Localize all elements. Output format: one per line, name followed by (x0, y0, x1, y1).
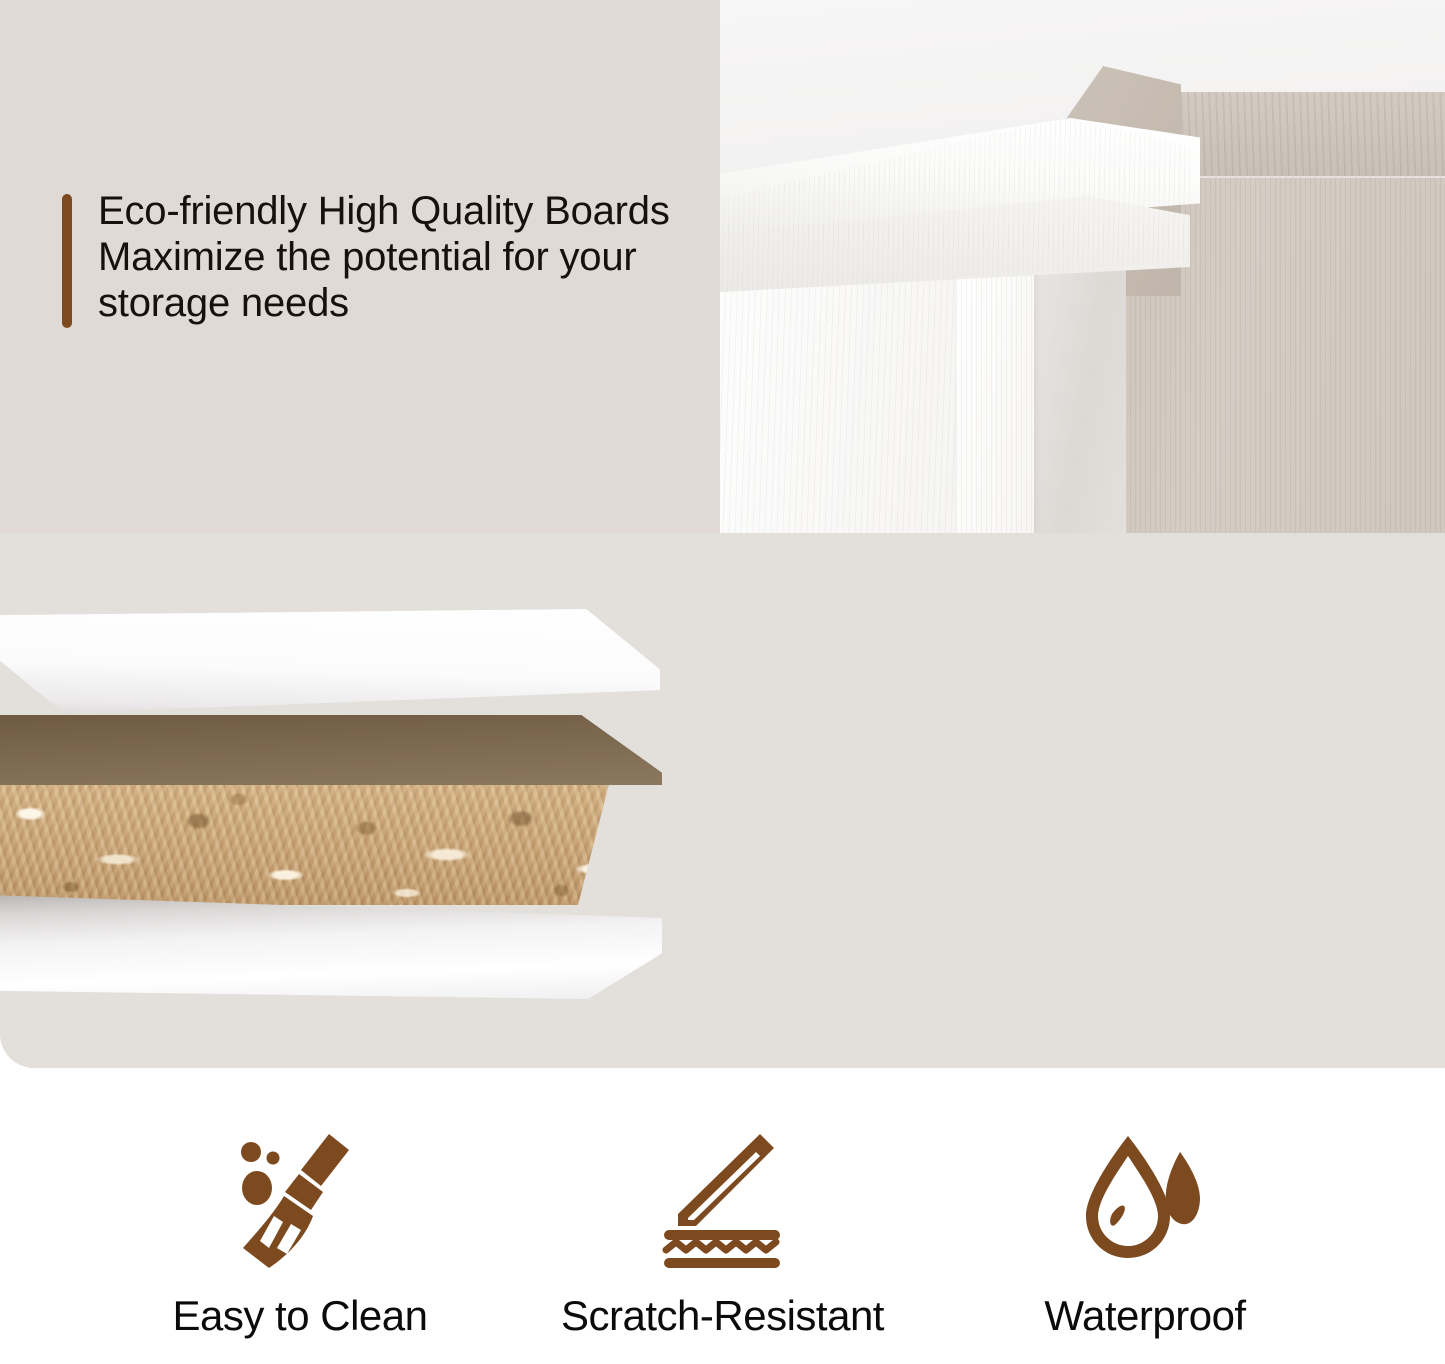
board-core (0, 715, 662, 905)
headline-block: Eco-friendly High Quality Boards Maximiz… (62, 188, 670, 328)
feature-scratch-resistant: Scratch-Resistant (573, 1068, 873, 1340)
top-panel: Eco-friendly High Quality Boards Maximiz… (0, 0, 1445, 533)
headline-text: Eco-friendly High Quality Boards Maximiz… (98, 188, 670, 326)
feature-easy-to-clean: Easy to Clean (150, 1068, 450, 1340)
board-top-laminate (0, 609, 660, 713)
board-core-top-bevel (0, 715, 662, 789)
knife-on-board-icon (648, 1130, 798, 1270)
bottom-panel: Easy to Clean Scratch-Resistant (0, 1068, 1445, 1364)
cabinet-photo (720, 0, 1445, 533)
feature-icon-row: Easy to Clean Scratch-Resistant (0, 1068, 1445, 1364)
product-feature-infographic: Eco-friendly High Quality Boards Maximiz… (0, 0, 1445, 1364)
board-particle-face (0, 785, 662, 905)
water-droplet-icon (1070, 1130, 1220, 1270)
accent-bar (62, 194, 72, 328)
board-cross-section-illustration (0, 609, 680, 999)
feature-label: Scratch-Resistant (561, 1292, 884, 1340)
cabinet-recess-shadow (1034, 252, 1126, 533)
broom-icon (225, 1130, 375, 1270)
cabinet-vertical-stile (956, 252, 1034, 533)
feature-label: Waterproof (1044, 1292, 1245, 1340)
feature-label: Easy to Clean (173, 1292, 428, 1340)
feature-waterproof: Waterproof (995, 1068, 1295, 1340)
middle-panel: Natural Color Surface Thick Engineered W… (0, 533, 1445, 1068)
board-bottom-laminate (0, 895, 662, 999)
